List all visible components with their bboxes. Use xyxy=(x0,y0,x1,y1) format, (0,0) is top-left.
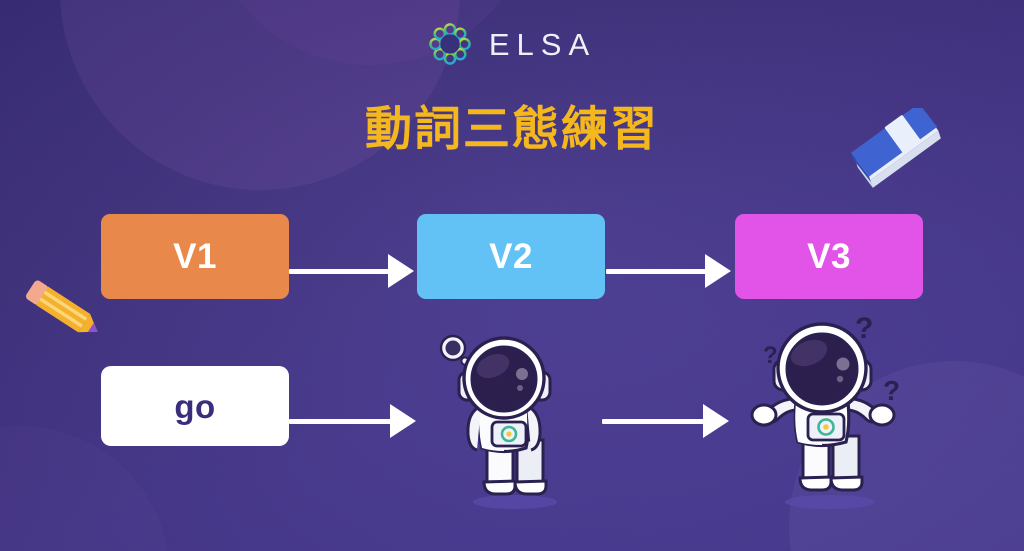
astronaut-confused-illustration: ? ? ? xyxy=(745,308,910,510)
card-v2[interactable]: V2 xyxy=(417,214,605,299)
arrow-shaft xyxy=(606,269,706,274)
card-v3-label: V3 xyxy=(807,239,851,274)
arrow-head xyxy=(388,254,414,288)
arrow-right-icon-go-to-past xyxy=(289,404,416,438)
arrow-head xyxy=(703,404,729,438)
thought-bubble-icon xyxy=(441,336,469,365)
card-v1[interactable]: V1 xyxy=(101,214,289,299)
card-verb-go[interactable]: go xyxy=(101,366,289,446)
book-icon xyxy=(843,108,955,196)
card-verb-go-label: go xyxy=(174,390,215,423)
elsa-flower-logo-icon xyxy=(428,22,472,66)
question-mark-icon-right: ? xyxy=(883,375,900,406)
pencil-icon xyxy=(16,275,112,345)
card-v1-label: V1 xyxy=(173,239,217,274)
arrow-shaft xyxy=(289,269,389,274)
slide-canvas: ELSA 動詞三態練習 xyxy=(0,0,1024,551)
card-v2-label: V2 xyxy=(489,239,533,274)
arrow-right-icon-past-to-participle xyxy=(602,404,729,438)
arrow-shaft xyxy=(289,419,391,424)
arrow-right-icon-v2-to-v3 xyxy=(606,254,731,288)
brand-name: ELSA xyxy=(486,29,596,60)
arrow-head xyxy=(390,404,416,438)
brand-header: ELSA xyxy=(0,22,1024,66)
card-v3[interactable]: V3 xyxy=(735,214,923,299)
astronaut-thinking-illustration xyxy=(437,330,587,510)
arrow-shaft xyxy=(602,419,704,424)
arrow-head xyxy=(705,254,731,288)
arrow-right-icon-v1-to-v2 xyxy=(289,254,414,288)
